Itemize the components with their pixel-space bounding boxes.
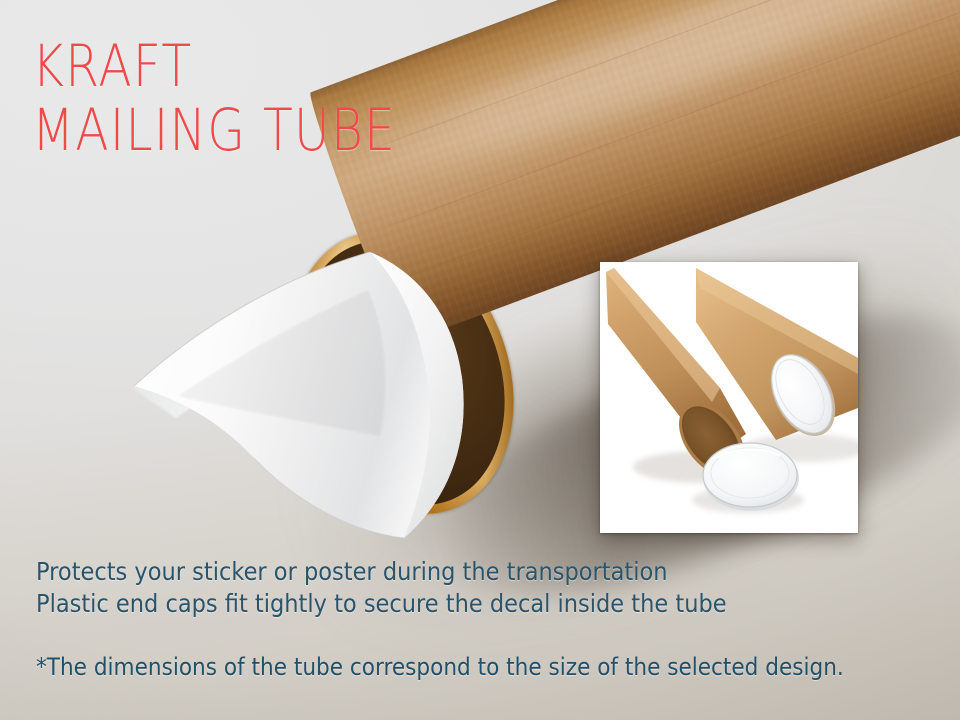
product-marketing-image: KRAFTMAILING TUBE Protects your sticker …	[0, 0, 960, 720]
body-copy: Protects your sticker or poster during t…	[36, 556, 727, 620]
page-title: KRAFTMAILING TUBE	[32, 34, 396, 162]
body-line-1: Protects your sticker or poster during t…	[36, 557, 667, 586]
title-line-1: KRAFT	[32, 32, 192, 100]
body-line-2: Plastic end caps fit tightly to secure t…	[36, 589, 727, 618]
footnote: *The dimensions of the tube correspond t…	[36, 652, 844, 682]
title-line-2: MAILING TUBE	[32, 96, 396, 164]
